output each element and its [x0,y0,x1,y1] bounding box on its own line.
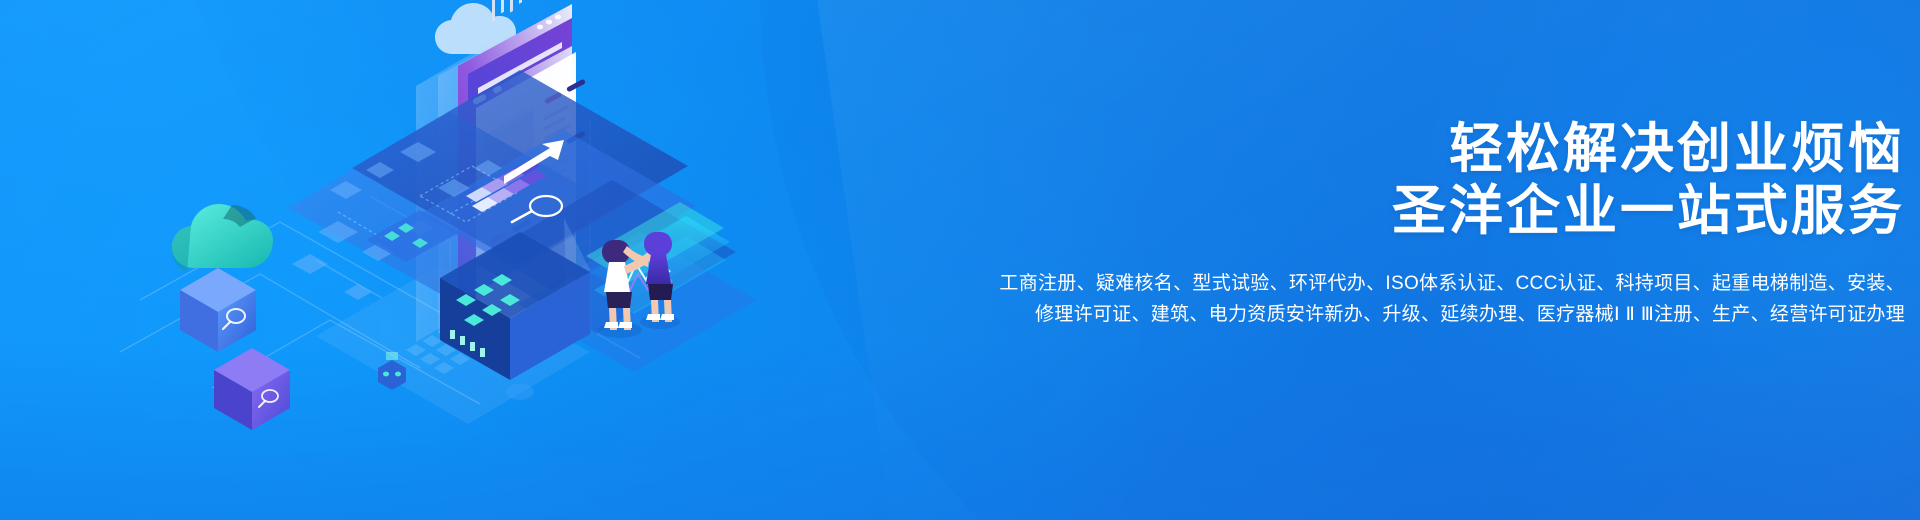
search-cube [180,268,256,352]
cloud-icon [172,204,273,272]
search-cube-lower [214,348,290,430]
copy-block: 轻松解决创业烦恼 圣洋企业一站式服务 工商注册、疑难核名、型式试验、环评代办、I… [735,118,1905,330]
service-description: 工商注册、疑难核名、型式试验、环评代办、ISO体系认证、CCC认证、科持项目、起… [735,268,1905,330]
service-description-line-2: 修理许可证、建筑、电力资质安许新办、升级、延续办理、医疗器械Ⅰ Ⅱ Ⅲ注册、生产… [735,299,1905,330]
page-title: 轻松解决创业烦恼 圣洋企业一站式服务 [735,118,1905,242]
service-description-line-1: 工商注册、疑难核名、型式试验、环评代办、ISO体系认证、CCC认证、科持项目、起… [735,268,1905,299]
promo-banner: 轻松解决创业烦恼 圣洋企业一站式服务 工商注册、疑难核名、型式试验、环评代办、I… [0,0,1920,520]
headline-line-2: 圣洋企业一站式服务 [735,180,1905,242]
headline-line-1: 轻松解决创业烦恼 [735,118,1905,180]
